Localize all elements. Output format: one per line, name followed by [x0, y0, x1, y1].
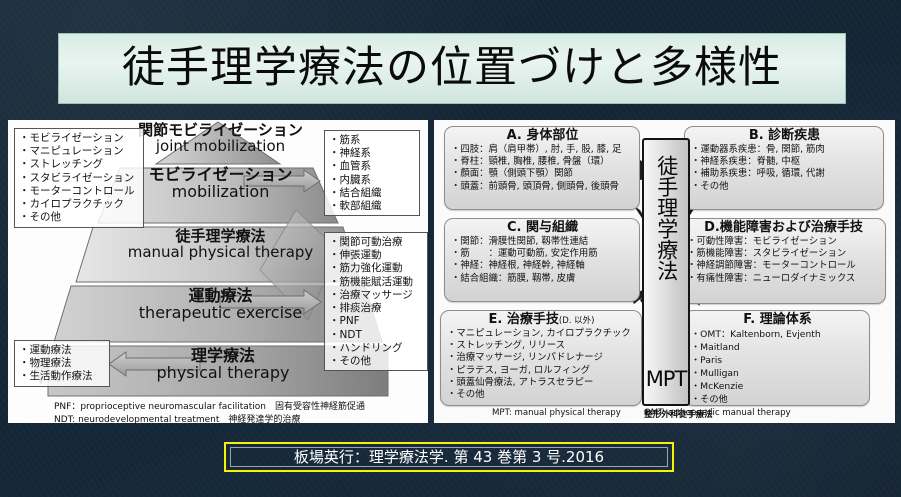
- list-item: ・筋力強化運動: [329, 262, 423, 275]
- slide-title-box: 徒手理学療法の位置づけと多様性: [58, 33, 846, 104]
- list-item: ・スタビライゼーション: [19, 172, 139, 185]
- bubble-e-title-sub: (D. 以外): [559, 316, 595, 326]
- list-item: ・NDT: [329, 329, 423, 342]
- list-item: ・神経調節障害：モーターコントロール: [687, 260, 880, 272]
- list-item: ・運動療法: [19, 344, 105, 357]
- techniques-box: ・モビライゼーション ・マニピュレーション ・ストレッチング ・スタビライゼーシ…: [14, 128, 144, 228]
- list-item: ・脊柱：頸椎, 胸椎, 腰椎, 骨盤（環）: [451, 156, 634, 168]
- bubble-c-title: C. 関与組織: [451, 221, 634, 236]
- list-item: ・結合組織: [329, 187, 415, 200]
- list-item: ・軟部組織: [329, 200, 415, 213]
- list-item: ・OMT：Kaltenborn, Evjenth: [691, 328, 864, 341]
- footnote-ndt: NDT: neurodevelopmental treatment 神経発達学的…: [54, 414, 424, 427]
- list-item: ・運動器系疾患：骨, 関節, 筋肉: [691, 144, 878, 156]
- list-item: ・マニピュレーション, カイロプラクチック: [447, 328, 636, 340]
- bubble-a-body-regions: A. 身体部位 ・四肢：肩（肩甲帯）, 肘, 手, 股, 膝, 足 ・脊柱：頸椎…: [444, 126, 640, 210]
- list-item: ・顔面：顎（側頭下顎）関節: [451, 168, 634, 180]
- bubble-c-list: ・関節：滑膜性関節, 靱帯性連結 ・筋 ：運動可動筋, 安定作用筋 ・神経：神経…: [451, 236, 634, 285]
- pyramid-figure: 関節モビライゼーション joint mobilization モビライゼーション…: [8, 120, 428, 423]
- list-item: ・Paris: [691, 354, 864, 367]
- bubble-a-list: ・四肢：肩（肩甲帯）, 肘, 手, 股, 膝, 足 ・脊柱：頸椎, 胸椎, 腰椎…: [451, 144, 634, 193]
- list-item: ・その他: [691, 181, 878, 193]
- list-item: ・筋系: [329, 134, 415, 147]
- list-item: ・関節：滑膜性関節, 靱帯性連結: [451, 236, 634, 248]
- list-item: ・ストレッチング: [19, 158, 139, 171]
- note-mpt: MPT: manual physical therapy: [492, 408, 621, 418]
- list-item: ・排痰治療: [329, 302, 423, 315]
- list-item: ・頭蓋仙骨療法, アトラスセラピー: [447, 377, 636, 389]
- citation-box: 板場英行：理学療法学. 第 43 巻第 3 号.2016: [224, 442, 674, 472]
- center-mpt-box: 徒手理学療法 MPT: [642, 138, 690, 406]
- bubble-c-tissues: C. 関与組織 ・関節：滑膜性関節, 靱帯性連結 ・筋 ：運動可動筋, 安定作用…: [444, 218, 640, 302]
- page-title: 徒手理学療法の位置づけと多様性: [122, 47, 782, 90]
- list-item: ・血管系: [329, 160, 415, 173]
- citation-inner-border: 板場英行：理学療法学. 第 43 巻第 3 号.2016: [230, 447, 668, 467]
- bubble-d-title: D.機能障害および治療手技: [687, 221, 880, 236]
- list-item: ・筋機能障害：スタビライゼーション: [687, 248, 880, 260]
- bubble-e-other-techniques: E. 治療手技(D. 以外) ・マニピュレーション, カイロプラクチック ・スト…: [440, 310, 642, 406]
- list-item: ・マニピュレーション: [19, 145, 139, 158]
- mpt-framework-figure: A. 身体部位 ・四肢：肩（肩甲帯）, 肘, 手, 股, 膝, 足 ・脊柱：頸椎…: [434, 120, 895, 423]
- list-item: ・ストレッチング, リリース: [447, 340, 636, 352]
- list-item: ・四肢：肩（肩甲帯）, 肘, 手, 股, 膝, 足: [451, 144, 634, 156]
- list-item: ・その他: [691, 393, 864, 406]
- list-item: ・物理療法: [19, 357, 105, 370]
- list-item: ・その他: [19, 211, 139, 224]
- tissue-systems-box: ・筋系 ・神経系 ・血管系 ・内臓系 ・結合組織 ・軟部組織: [324, 130, 420, 216]
- bubble-b-diagnoses: B. 診断疾患 ・運動器系疾患：骨, 関節, 筋肉 ・神経系疾患：脊髄, 中枢 …: [684, 126, 884, 210]
- note-omt: OMT: orthopaedic manual therapy整形外科徒手療法: [644, 408, 713, 420]
- list-item: ・神経系疾患：脊髄, 中枢: [691, 156, 878, 168]
- bubble-e-list: ・マニピュレーション, カイロプラクチック ・ストレッチング, リリース ・治療…: [447, 328, 636, 401]
- citation-text: 板場英行：理学療法学. 第 43 巻第 3 号.2016: [294, 450, 604, 465]
- list-item: ・Maitland: [691, 341, 864, 354]
- footnote-pnf: PNF：proprioceptive neuromascular facilit…: [54, 401, 424, 414]
- bubble-a-title: A. 身体部位: [451, 129, 634, 144]
- bubble-e-title: E. 治療手技(D. 以外): [447, 313, 636, 328]
- list-item: ・モーターコントロール: [19, 185, 139, 198]
- list-item: ・生活動作療法: [19, 370, 105, 383]
- bubble-b-title: B. 診断疾患: [691, 129, 878, 144]
- pyramid-footnotes: PNF：proprioceptive neuromascular facilit…: [54, 401, 424, 427]
- pyramid-graphic: 関節モビライゼーション joint mobilization モビライゼーション…: [8, 120, 428, 398]
- list-item: ・神経系: [329, 147, 415, 160]
- list-item: ・有痛性障害：ニューロダイナミックス: [687, 273, 880, 285]
- slide-canvas: 徒手理学療法の位置づけと多様性: [0, 0, 901, 497]
- list-item: ・内臓系: [329, 174, 415, 187]
- mpt-framework-notes: MPT: manual physical therapy OMT: orthop…: [444, 408, 894, 423]
- list-item: ・結合組織：筋膜, 靱帯, 皮膚: [451, 273, 634, 285]
- list-item: ・PNF: [329, 315, 423, 328]
- bubble-f-list: ・OMT：Kaltenborn, Evjenth ・Maitland ・Pari…: [691, 328, 864, 406]
- list-item: ・伸張運動: [329, 249, 423, 262]
- list-item: ・治療マッサージ: [329, 289, 423, 302]
- list-item: ・治療マッサージ, リンパドレナージ: [447, 352, 636, 364]
- list-item: ・その他: [329, 355, 423, 368]
- list-item: ・Mulligan: [691, 367, 864, 380]
- list-item: ・関節可動治療: [329, 236, 423, 249]
- list-item: ・カイロプラクチック: [19, 198, 139, 211]
- list-item: ・モビライゼーション: [19, 132, 139, 145]
- center-mpt-label-en: MPT: [646, 369, 687, 390]
- bubble-b-list: ・運動器系疾患：骨, 関節, 筋肉 ・神経系疾患：脊髄, 中枢 ・補助系疾患：呼…: [691, 144, 878, 193]
- list-item: ・筋機能賦活運動: [329, 276, 423, 289]
- bubble-f-theoretical-systems: F. 理論体系 ・OMT：Kaltenborn, Evjenth ・Maitla…: [684, 310, 870, 406]
- physical-therapy-box: ・運動療法 ・物理療法 ・生活動作療法: [14, 340, 110, 387]
- list-item: ・可動性障害：モビライゼーション: [687, 236, 880, 248]
- list-item: ・ピラテス, ヨーガ, ロルフィング: [447, 365, 636, 377]
- list-item: ・その他: [447, 389, 636, 401]
- list-item: ・補助系疾患：呼吸, 循環, 代謝: [691, 168, 878, 180]
- note-omt-en: OMT: orthopaedic manual therapy: [644, 408, 791, 418]
- list-item: ・頭蓋：前頭骨, 頭頂骨, 側頭骨, 後頭骨: [451, 181, 634, 193]
- center-mpt-label-jp: 徒手理学療法: [655, 155, 676, 367]
- bubble-e-title-main: E. 治療手技: [489, 312, 559, 327]
- bubble-d-list: ・可動性障害：モビライゼーション ・筋機能障害：スタビライゼーション ・神経調節…: [687, 236, 880, 285]
- list-item: ・筋 ：運動可動筋, 安定作用筋: [451, 248, 634, 260]
- list-item: ・McKenzie: [691, 380, 864, 393]
- exercise-methods-box: ・関節可動治療 ・伸張運動 ・筋力強化運動 ・筋機能賦活運動 ・治療マッサージ …: [324, 232, 428, 371]
- bubble-d-dysfunction-techniques: D.機能障害および治療手技 ・可動性障害：モビライゼーション ・筋機能障害：スタ…: [680, 218, 886, 304]
- list-item: ・神経：神経根, 神経幹, 神経軸: [451, 260, 634, 272]
- bubble-f-title: F. 理論体系: [691, 313, 864, 328]
- list-item: ・ハンドリング: [329, 342, 423, 355]
